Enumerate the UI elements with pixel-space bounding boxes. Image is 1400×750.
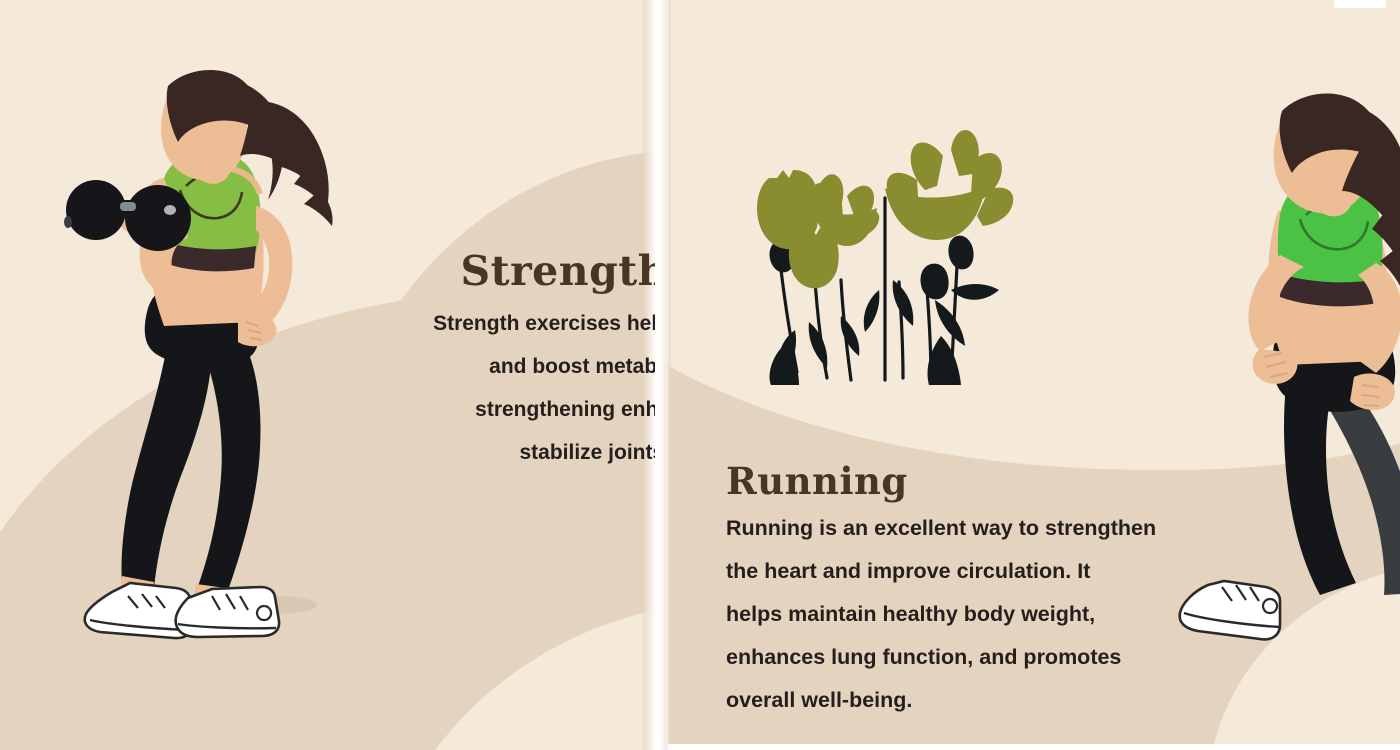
running-heading: Running xyxy=(726,462,1246,501)
running-body-line-1: Running is an excellent way to strengthe… xyxy=(726,507,1246,550)
running-body-line-4: enhances lung function, and promotes xyxy=(726,636,1246,679)
page-edge-highlight-top xyxy=(1334,0,1386,8)
strength-body-line-2: and boost metabo xyxy=(200,345,655,388)
left-page: Strength Strength exercises help and boo… xyxy=(0,0,655,750)
running-body-line-2: the heart and improve circulation. It xyxy=(726,550,1246,593)
page-edge-highlight-bottom xyxy=(668,744,1400,750)
running-body: Running is an excellent way to strengthe… xyxy=(726,507,1246,722)
strength-body-line-1: Strength exercises help xyxy=(200,302,655,345)
running-body-line-3: helps maintain healthy body weight, xyxy=(726,593,1246,636)
strength-body: Strength exercises help and boost metabo… xyxy=(200,302,655,474)
left-text-block: Strength Strength exercises help and boo… xyxy=(200,250,655,474)
strength-heading: Strength xyxy=(200,250,655,293)
running-body-line-5: overall well-being. xyxy=(726,679,1246,722)
book-spread: Strength Strength exercises help and boo… xyxy=(0,0,1400,750)
right-text-block: Running Running is an excellent way to s… xyxy=(726,462,1246,722)
woman-running-illustration xyxy=(1222,95,1400,640)
strength-body-line-4: stabilize joints, xyxy=(200,431,655,474)
flower-illustration xyxy=(745,140,1020,385)
strength-body-line-3: strengthening enha xyxy=(200,388,655,431)
